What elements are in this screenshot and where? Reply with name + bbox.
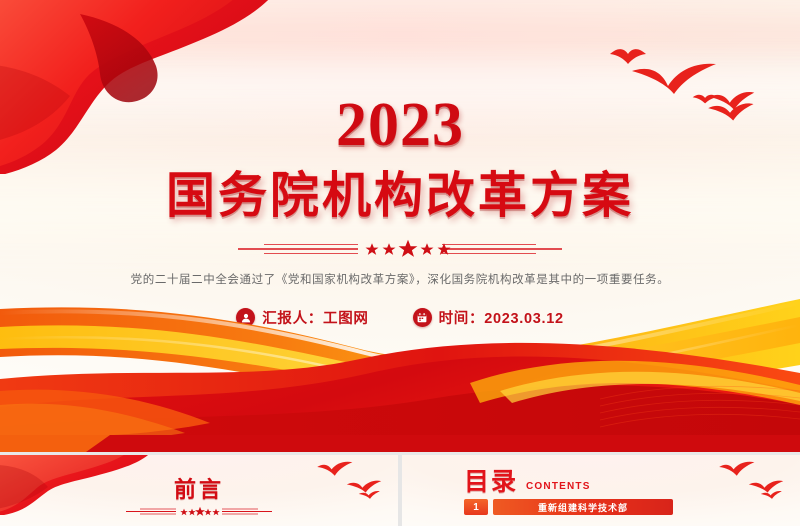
contents-item[interactable]: 1 重新组建科学技术部 [464, 499, 673, 515]
slide-year: 2023 [0, 94, 800, 156]
sky-haze-band [0, 18, 800, 78]
calendar-icon [413, 308, 432, 327]
star-divider [220, 238, 580, 260]
title-slide[interactable]: 2023 国务院机构改革方案 [0, 0, 800, 452]
date-label: 时间：2023.03.12 [439, 307, 564, 328]
slide-headline: 国务院机构改革方案 [0, 170, 800, 222]
presenter-field: 汇报人：工图网 [236, 307, 368, 328]
thumbnail-title: 目录 [464, 469, 518, 494]
contents-item-number: 1 [464, 499, 488, 515]
thumbnail-contents[interactable]: 目录 CONTENTS 1 重新组建科学技术部 [402, 455, 800, 526]
star-divider [124, 506, 274, 517]
user-icon [236, 308, 255, 327]
contents-subtitle: CONTENTS [526, 481, 591, 494]
title-block: 2023 国务院机构改革方案 [0, 94, 800, 328]
slide-meta: 汇报人：工图网 时间：2023.03. [0, 307, 800, 328]
contents-item-label: 重新组建科学技术部 [493, 499, 673, 515]
flying-birds-icon [716, 459, 792, 505]
presenter-label: 汇报人：工图网 [262, 307, 368, 328]
contents-block: 目录 CONTENTS 1 重新组建科学技术部 [464, 469, 673, 515]
thumbnail-preface[interactable]: 前言 [0, 455, 398, 526]
slide-lede: 党的二十届二中全会通过了《党和国家机构改革方案》，深化国务院机构改革是其中的一项… [0, 272, 800, 289]
contents-heading: 目录 CONTENTS [464, 469, 673, 494]
slide-thumbnail-strip: 前言 [0, 455, 800, 526]
thumbnail-title-block: 前言 [0, 472, 398, 517]
thumbnail-title: 前言 [0, 472, 398, 504]
presentation-deck: 2023 国务院机构改革方案 [0, 0, 800, 526]
date-field: 时间：2023.03.12 [413, 307, 564, 328]
